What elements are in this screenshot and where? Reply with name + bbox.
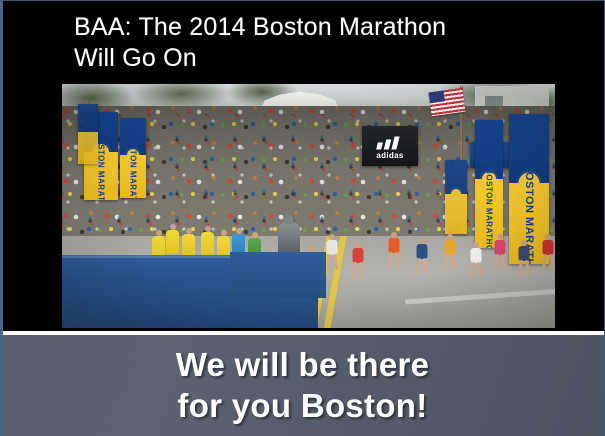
slide-top-area: BAA: The 2014 Boston Marathon Will Go On — [0, 0, 605, 331]
flag-canton — [428, 90, 444, 103]
closing-banner: We will be there for you Boston! — [0, 335, 605, 436]
adidas-sponsor-banner: adidas — [362, 126, 418, 166]
divider-line — [3, 331, 605, 335]
crowd-barrier-center — [230, 252, 326, 298]
presentation-slide: BAA: The 2014 Boston Marathon Will Go On — [0, 0, 605, 436]
adidas-logo-icon — [377, 136, 403, 149]
page-title: BAA: The 2014 Boston Marathon Will Go On — [74, 12, 544, 74]
marathon-banner-right-3 — [445, 160, 467, 234]
volunteer-figure — [166, 230, 179, 254]
marathon-photo: adidas BOSTON MARATHON BOSTON MARA — [62, 84, 555, 328]
photo-content: adidas BOSTON MARATHON BOSTON MARA — [62, 84, 555, 328]
marathon-banner-left-3 — [78, 104, 98, 164]
adidas-wordmark: adidas — [362, 151, 418, 160]
closing-message: We will be there for you Boston! — [0, 344, 605, 426]
us-flag-icon — [428, 88, 465, 116]
marathon-banner-left-2: BOSTON MARATHON — [120, 118, 146, 198]
marathon-banner-right-2: BOSTON MARATHON — [475, 120, 503, 248]
volunteer-figure — [201, 232, 214, 256]
banner-label: BOSTON MARATHON — [485, 168, 494, 248]
banner-label: BOSTON MARATHON — [129, 131, 138, 198]
